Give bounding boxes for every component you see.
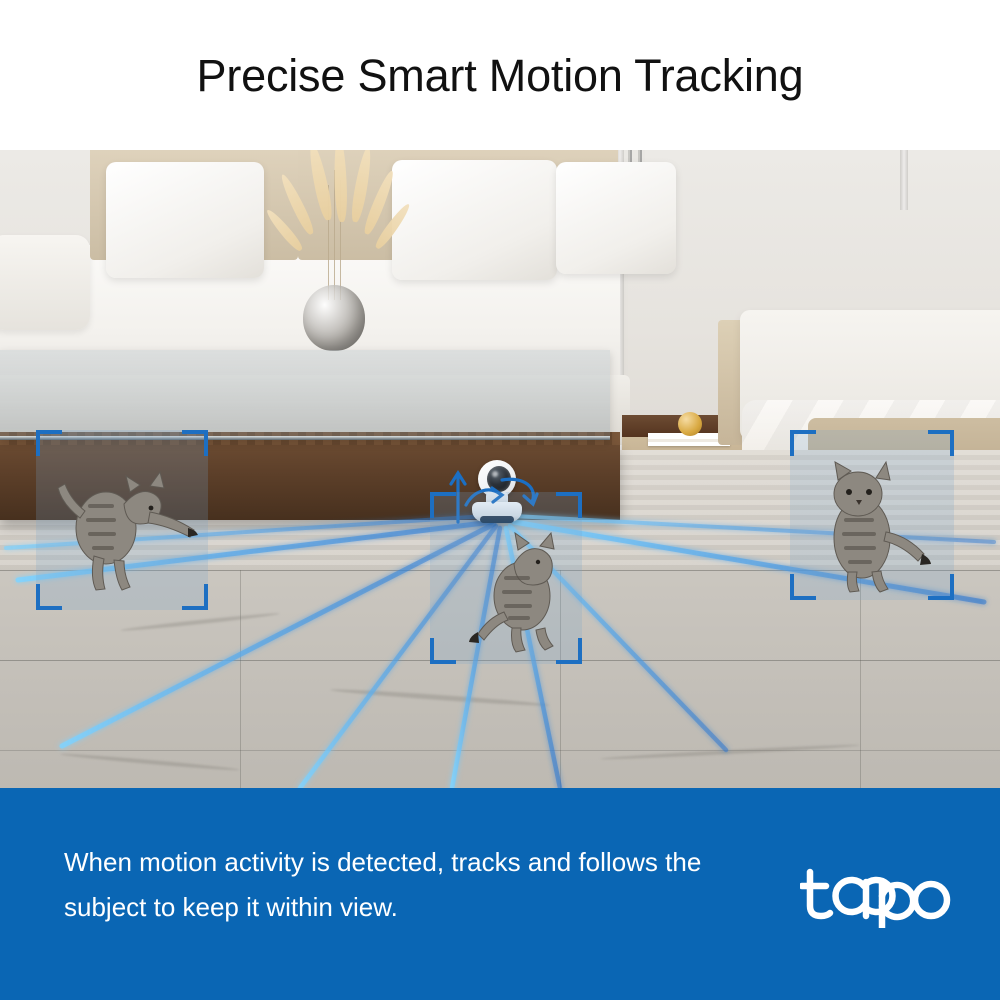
bracket-corner-top-left	[36, 430, 62, 456]
page-title: Precise Smart Motion Tracking	[197, 53, 804, 98]
bracket-corner-top-right	[182, 430, 208, 456]
scene-photo	[0, 150, 1000, 788]
bracket-corner-top-right	[928, 430, 954, 456]
header: Precise Smart Motion Tracking	[0, 0, 1000, 150]
cat-subject-left	[54, 456, 204, 598]
bracket-corner-top-left	[790, 430, 816, 456]
cat-subject-center	[452, 520, 576, 656]
tracking-box-center[interactable]	[430, 492, 582, 664]
poster: Precise Smart Motion Tracking	[0, 0, 1000, 1000]
bracket-corner-top-left	[430, 492, 456, 518]
tracking-box-right[interactable]	[790, 430, 954, 600]
footer-caption: When motion activity is detected, tracks…	[64, 840, 704, 930]
cat-subject-right	[804, 454, 944, 594]
footer-band: When motion activity is detected, tracks…	[0, 788, 1000, 1000]
bracket-corner-top-right	[556, 492, 582, 518]
tapo-logo	[800, 866, 952, 928]
tracking-box-left[interactable]	[36, 430, 208, 610]
